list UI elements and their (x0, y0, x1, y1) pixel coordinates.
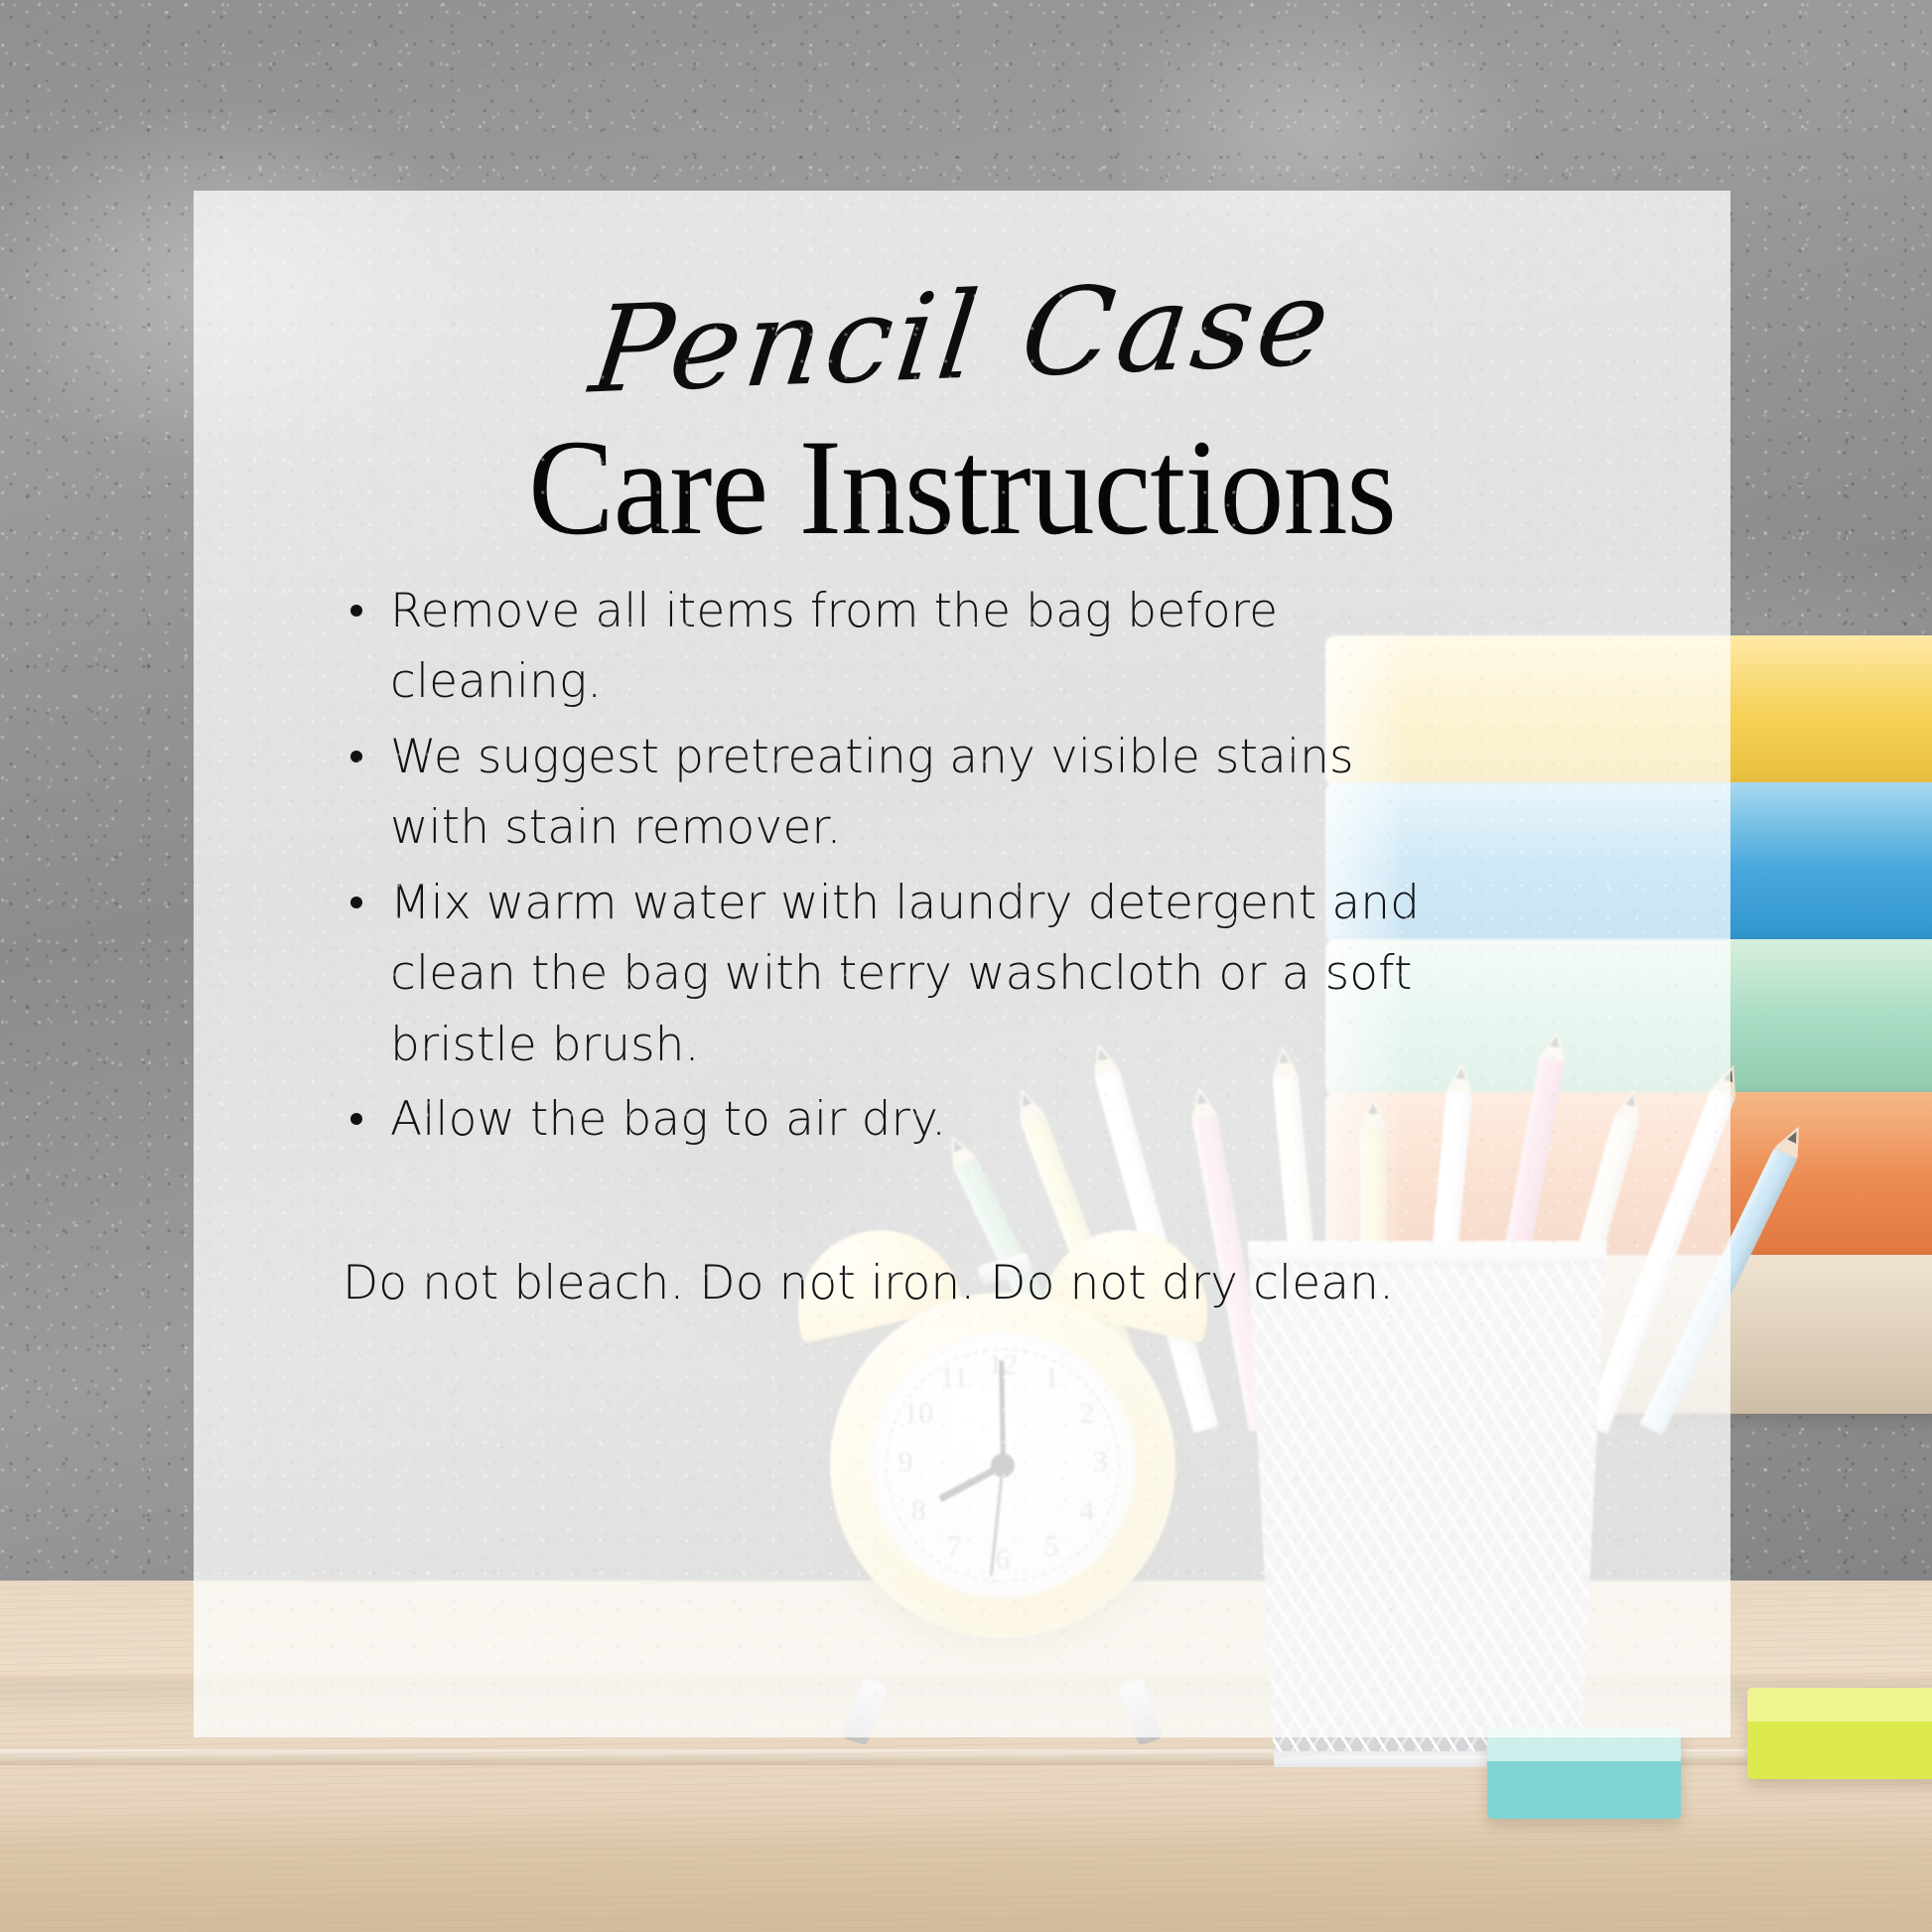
care-footnote: Do not bleach. Do not iron. Do not dry c… (343, 1251, 1584, 1316)
bullet-icon (350, 897, 362, 908)
care-instruction-text: Allow the bag to air dry. (390, 1092, 946, 1147)
care-instructions-list: Remove all items from the bag before cle… (343, 576, 1464, 1160)
bullet-icon (350, 605, 362, 617)
bullet-icon (350, 751, 362, 762)
script-subtitle: Pencil Case (187, 248, 1736, 427)
card-content: Pencil Case Care Instructions Remove all… (194, 191, 1730, 1737)
bullet-icon (350, 1113, 362, 1125)
care-instruction-item: Mix warm water with laundry detergent an… (343, 868, 1464, 1080)
instructions-card: Pencil Case Care Instructions Remove all… (194, 191, 1730, 1737)
yellow-eraser (1747, 1688, 1932, 1779)
blue-eraser (1487, 1727, 1681, 1819)
care-instruction-item: We suggest pretreating any visible stain… (343, 722, 1464, 864)
care-instruction-text: Remove all items from the bag before cle… (390, 584, 1278, 709)
care-instruction-item: Remove all items from the bag before cle… (343, 576, 1464, 718)
care-instruction-text: Mix warm water with laundry detergent an… (390, 876, 1420, 1072)
care-instruction-item: Allow the bag to air dry. (343, 1084, 1464, 1155)
care-instruction-text: We suggest pretreating any visible stain… (390, 730, 1354, 855)
page-title: Care Instructions (239, 419, 1684, 556)
poster-canvas: 121234567891011 Pencil Case Care Instruc… (0, 0, 1932, 1932)
